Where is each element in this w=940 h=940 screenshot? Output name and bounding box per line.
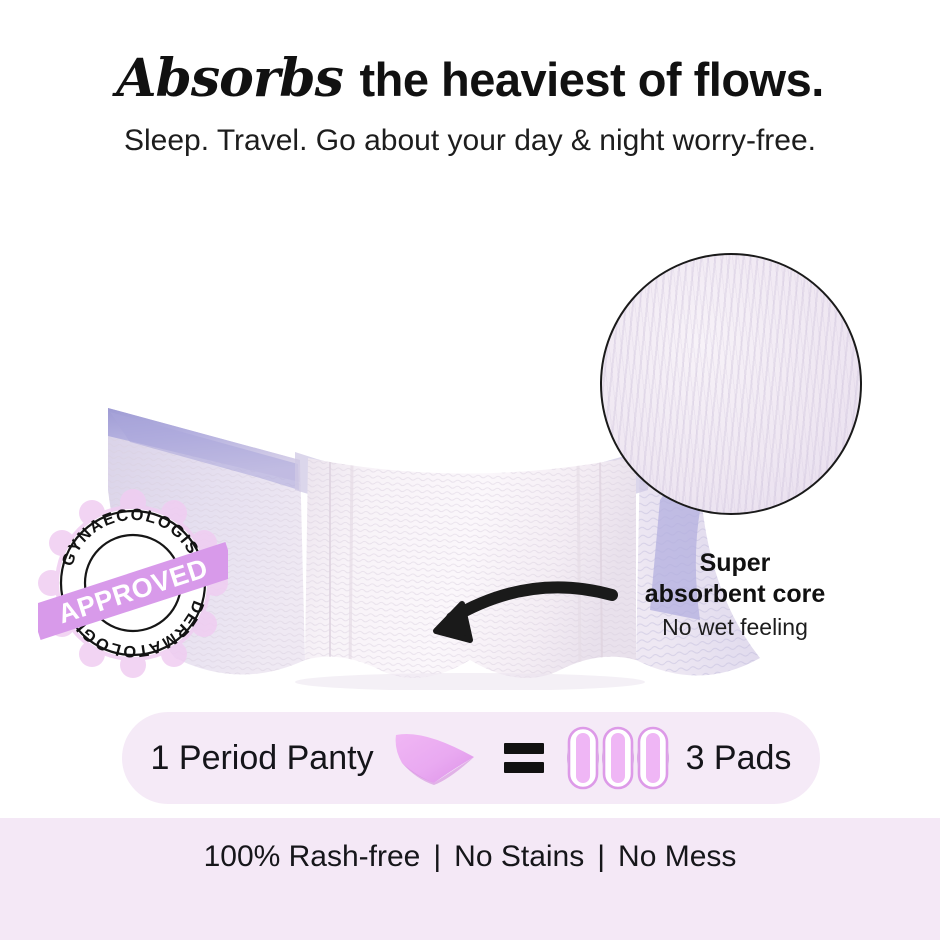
sanitary-pad-icon [601,725,635,791]
subtitle: Sleep. Travel. Go about your day & night… [0,107,940,159]
page-title: Absorbs the heaviest of flows. [0,0,940,107]
pads-icon-group [566,725,670,791]
header-block: Absorbs the heaviest of flows. Sleep. Tr… [0,0,940,159]
sanitary-pad-icon [566,725,600,791]
callout-line-3: No wet feeling [575,609,895,643]
headline-rest: the heaviest of flows. [347,53,824,106]
equivalence-right-label: 3 Pads [686,739,792,778]
footer-claims: 100% Rash-free|No Stains|No Mess [204,818,737,874]
sanitary-pad-icon [636,725,670,791]
callout-line-1: Super [575,548,895,579]
callout-text: Super absorbent core No wet feeling [575,548,895,643]
period-panty-icon [390,727,482,789]
approval-badge: GYNAECOLOGIST DERMATOLOGIST APPROVED [38,488,228,678]
equivalence-left-label: 1 Period Panty [151,739,374,778]
headline-script-word: Absorbs [116,48,347,109]
footer-band: 100% Rash-free|No Stains|No Mess [0,818,940,940]
footer-separator-2: | [584,840,618,873]
footer-claim-1: 100% Rash-free [204,840,421,873]
absorbent-core-zoom-circle [600,253,862,515]
equivalence-bar: 1 Period Panty [122,712,820,804]
equals-sign [504,743,544,773]
footer-claim-3: No Mess [618,840,736,873]
equals-bar-bottom [504,762,544,773]
footer-separator-1: | [420,840,454,873]
infographic-canvas: Absorbs the heaviest of flows. Sleep. Tr… [0,0,940,940]
equals-bar-top [504,743,544,754]
callout-line-2: absorbent core [575,579,895,610]
footer-claim-2: No Stains [454,840,584,873]
